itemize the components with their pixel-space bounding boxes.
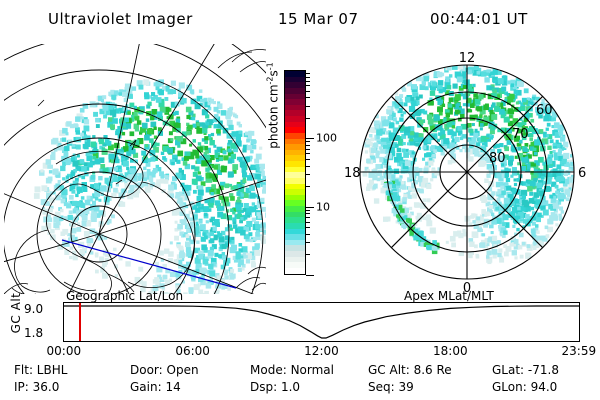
- gc-alt-ytick-high: 9.0: [24, 302, 43, 316]
- aurora-pixel: [240, 217, 243, 220]
- aurora-pixel: [439, 112, 443, 116]
- aurora-pixel: [98, 176, 102, 180]
- aurora-pixel: [418, 231, 423, 236]
- status-field-value: 39: [395, 380, 414, 394]
- aurora-pixel: [218, 254, 222, 258]
- aurora-pixel: [226, 111, 232, 117]
- aurora-pixel: [462, 71, 466, 75]
- aurora-pixel: [526, 253, 530, 257]
- aurora-pixel: [228, 171, 234, 177]
- status-field-label: IP:: [14, 380, 29, 394]
- aurora-pixel: [153, 168, 158, 173]
- aurora-pixel: [398, 141, 403, 146]
- aurora-pixel: [481, 136, 487, 142]
- aurora-pixel: [487, 174, 491, 178]
- aurora-pixel: [516, 101, 519, 104]
- aurora-pixel: [164, 179, 169, 184]
- aurora-pixel: [501, 191, 506, 196]
- aurora-pixel: [151, 92, 155, 96]
- aurora-pixel: [198, 171, 201, 174]
- aurora-pixel: [414, 138, 418, 142]
- aurora-pixel: [233, 224, 238, 229]
- aurora-pixel: [188, 125, 193, 130]
- colorbar-tick-3: [306, 85, 310, 86]
- aurora-pixel: [175, 196, 178, 199]
- aurora-pixel: [74, 123, 78, 127]
- aurora-pixel: [401, 213, 404, 216]
- aurora-pixel: [251, 261, 255, 265]
- aurora-pixel: [108, 154, 114, 160]
- aurora-pixel: [228, 149, 232, 153]
- aurora-pixel: [206, 122, 209, 125]
- gc-alt-curve-canvas: [64, 303, 579, 341]
- aurora-pixel: [449, 74, 452, 77]
- aurora-pixel: [492, 236, 497, 241]
- aurora-pixel: [242, 172, 247, 177]
- aurora-pixel: [476, 254, 479, 257]
- aurora-pixel: [432, 82, 437, 87]
- aurora-pixel: [176, 119, 181, 124]
- aurora-pixel: [536, 230, 540, 234]
- aurora-pixel: [187, 152, 191, 156]
- aurora-pixel: [156, 97, 162, 103]
- aurora-pixel: [183, 234, 186, 237]
- aurora-pixel: [186, 185, 192, 191]
- aurora-pixel: [520, 255, 524, 259]
- aurora-pixel: [447, 85, 452, 90]
- aurora-pixel: [509, 94, 515, 100]
- aurora-pixel: [62, 128, 68, 134]
- aurora-pixel: [53, 138, 59, 144]
- aurora-pixel: [531, 142, 535, 146]
- aurora-pixel: [555, 223, 558, 226]
- aurora-pixel: [201, 181, 206, 186]
- aurora-pixel: [497, 240, 501, 244]
- aurora-pixel: [211, 192, 214, 195]
- aurora-pixel: [69, 210, 73, 214]
- aurora-pixel: [484, 77, 489, 82]
- aurora-pixel: [428, 161, 433, 166]
- aurora-pixel: [138, 267, 143, 272]
- aurora-pixel: [211, 133, 214, 136]
- colorbar-tick-23: [306, 234, 310, 235]
- aurora-pixel: [60, 209, 64, 213]
- aurora-pixel: [146, 118, 150, 122]
- colorbar-tick-1: [306, 77, 310, 78]
- aurora-pixel: [175, 221, 178, 224]
- aurora-pixel: [122, 92, 127, 97]
- aurora-pixel: [483, 105, 489, 111]
- aurora-pixel: [547, 187, 552, 192]
- aurora-pixel: [208, 250, 214, 256]
- aurora-pixel: [537, 183, 543, 189]
- aurora-pixel: [53, 169, 59, 175]
- aurora-pixel: [487, 238, 492, 243]
- aurora-pixel: [366, 140, 371, 145]
- aurora-pixel: [145, 144, 148, 147]
- aurora-pixel: [64, 146, 69, 151]
- aurora-pixel: [62, 229, 68, 235]
- aurora-pixel: [196, 123, 200, 127]
- status-field-label: Flt:: [14, 363, 33, 377]
- aurora-pixel: [406, 218, 410, 222]
- aurora-pixel: [566, 197, 570, 201]
- status-field-gain: Gain: 14: [130, 380, 181, 394]
- aurora-pixel: [409, 174, 415, 180]
- aurora-pixel: [560, 188, 563, 191]
- aurora-pixel: [218, 233, 222, 237]
- aurora-pixel: [199, 220, 203, 224]
- gc-alt-timeseries[interactable]: GC Alt 9.0 1.8 00:0006:0012:0018:0023:59: [0, 300, 600, 356]
- aurora-pixel: [80, 133, 84, 137]
- aurora-pixel: [217, 206, 222, 211]
- aurora-pixel: [374, 142, 379, 147]
- aurora-pixel: [205, 168, 209, 172]
- aurora-pixel: [197, 196, 202, 201]
- aurora-pixel: [147, 129, 153, 135]
- aurora-pixel: [370, 138, 374, 142]
- aurora-pixel: [90, 142, 96, 148]
- aurora-pixel: [178, 246, 183, 251]
- aurora-pixel: [228, 125, 233, 130]
- aurora-pixel: [233, 114, 237, 118]
- aurora-pixel: [433, 246, 438, 251]
- aurora-pixel: [430, 228, 436, 234]
- aurora-pixel: [176, 160, 180, 164]
- aurora-pixel: [51, 152, 55, 156]
- aurora-pixel: [48, 218, 53, 223]
- apex-graticule: [360, 65, 574, 279]
- aurora-pixel: [224, 275, 228, 279]
- status-field-mode: Mode: Normal: [250, 363, 334, 377]
- aurora-pixel: [189, 211, 193, 215]
- aurora-pixel: [472, 123, 475, 126]
- aurora-pixel: [246, 221, 252, 227]
- colorbar-tick-9: [306, 141, 310, 142]
- aurora-pixel: [216, 129, 221, 134]
- aurora-pixel: [239, 131, 242, 134]
- aurora-pixel: [119, 201, 123, 205]
- aurora-pixel: [60, 166, 65, 171]
- status-field-seq: Seq: 39: [368, 380, 414, 394]
- aurora-pixel: [214, 107, 219, 112]
- aurora-pixel: [410, 131, 414, 135]
- aurora-pixel: [171, 81, 176, 86]
- aurora-pixel: [559, 207, 563, 211]
- aurora-pixel: [88, 162, 93, 167]
- aurora-pixel: [113, 248, 117, 252]
- aurora-pixel: [512, 167, 517, 172]
- aurora-pixel: [242, 168, 247, 173]
- colorbar-unit-exp1: -2: [266, 76, 275, 84]
- aurora-pixel: [192, 179, 198, 185]
- aurora-pixel: [458, 126, 463, 131]
- aurora-pixel: [486, 255, 490, 259]
- aurora-pixel: [245, 132, 249, 136]
- aurora-pixel: [168, 185, 174, 191]
- aurora-pixel: [141, 172, 147, 178]
- colorbar-tick-21: [306, 222, 310, 223]
- aurora-pixel: [393, 192, 398, 197]
- aurora-pixel: [563, 142, 568, 147]
- aurora-pixel: [491, 231, 494, 234]
- aurora-pixel: [451, 243, 456, 248]
- aurora-pixel: [468, 156, 473, 161]
- aurora-pixel: [409, 231, 414, 236]
- aurora-pixel: [157, 111, 163, 117]
- aurora-pixel: [407, 213, 412, 218]
- aurora-pixel: [236, 204, 242, 210]
- aurora-pixel: [534, 139, 540, 145]
- aurora-pixel: [492, 88, 495, 91]
- aurora-pixel: [501, 87, 506, 92]
- colorbar-tick-4: [306, 91, 310, 92]
- aurora-pixel: [230, 228, 233, 231]
- aurora-pixel: [406, 149, 409, 152]
- aurora-pixel: [426, 214, 431, 219]
- aurora-pixel: [490, 136, 493, 139]
- aurora-pixel: [87, 196, 91, 200]
- aurora-pixel: [186, 234, 190, 238]
- aurora-pixel: [527, 181, 530, 184]
- status-field-value: 14: [162, 380, 181, 394]
- aurora-pixel: [213, 227, 217, 231]
- aurora-pixel: [426, 220, 432, 226]
- aurora-pixel: [538, 157, 544, 163]
- aurora-pixel: [468, 223, 471, 226]
- status-field-ip: IP: 36.0: [14, 380, 59, 394]
- status-field-label: Gain:: [130, 380, 162, 394]
- aurora-pixel: [186, 247, 191, 252]
- aurora-pixel: [524, 88, 529, 93]
- aurora-pixel: [217, 212, 223, 218]
- aurora-pixel: [517, 147, 521, 151]
- aurora-pixel: [189, 218, 193, 222]
- aurora-pixel: [496, 144, 500, 148]
- aurora-pixel: [198, 142, 201, 145]
- aurora-pixel: [480, 123, 484, 127]
- aurora-pixel: [391, 174, 396, 179]
- aurora-pixel: [179, 252, 185, 258]
- aurora-pixel: [495, 207, 499, 211]
- aurora-pixel: [211, 184, 216, 189]
- aurora-pixel: [411, 101, 416, 106]
- aurora-pixel: [213, 101, 216, 104]
- aurora-pixel: [522, 195, 526, 199]
- aurora-pixel: [236, 192, 240, 196]
- aurora-pixel: [186, 229, 190, 233]
- aurora-pixel: [119, 169, 122, 172]
- aurora-pixel: [486, 134, 489, 137]
- aurora-pixel: [377, 178, 381, 182]
- aurora-pixel: [376, 130, 382, 136]
- aurora-pixel: [209, 219, 213, 223]
- aurora-pixel: [457, 231, 461, 235]
- aurora-pixel: [480, 242, 486, 248]
- aurora-pixel: [403, 111, 406, 114]
- aurora-pixel: [457, 77, 463, 83]
- aurora-pixel: [554, 156, 559, 161]
- aurora-pixel: [237, 122, 241, 126]
- aurora-pixel: [445, 78, 449, 82]
- aurora-pixel: [81, 175, 85, 179]
- aurora-pixel: [161, 152, 164, 155]
- aurora-pixel: [521, 166, 526, 171]
- aurora-pixel: [95, 197, 99, 201]
- aurora-pixel: [472, 231, 478, 237]
- status-field-label: GLat:: [492, 363, 524, 377]
- aurora-pixel: [404, 127, 410, 133]
- aurora-pixel: [170, 138, 173, 141]
- aurora-pixel: [204, 213, 208, 217]
- aurora-pixel: [385, 174, 391, 180]
- aurora-pixel: [242, 208, 246, 212]
- aurora-pixel: [210, 199, 214, 203]
- aurora-pixel: [81, 166, 87, 172]
- aurora-pixel: [247, 175, 253, 181]
- aurora-pixel: [204, 291, 209, 294]
- aurora-pixel: [214, 165, 219, 170]
- aurora-pixel: [477, 106, 482, 111]
- aurora-pixel: [414, 202, 419, 207]
- aurora-pixel: [86, 222, 91, 227]
- aurora-pixel: [193, 124, 197, 128]
- aurora-pixel: [201, 237, 206, 242]
- aurora-pixel: [476, 142, 480, 146]
- page-title: Ultraviolet Imager: [48, 10, 193, 28]
- aurora-pixel: [247, 145, 252, 150]
- aurora-pixel: [487, 250, 492, 255]
- aurora-pixel: [543, 165, 549, 171]
- aurora-pixel: [99, 257, 104, 262]
- colorbar-tick-24: [306, 242, 310, 243]
- aurora-pixel: [252, 218, 256, 222]
- aurora-pixel: [491, 213, 495, 217]
- aurora-pixel: [449, 122, 453, 126]
- status-field-gc-alt: GC Alt: 8.6 Re: [368, 363, 452, 377]
- aurora-pixel: [84, 119, 89, 124]
- aurora-pixel: [438, 80, 443, 85]
- aurora-pixel: [383, 128, 387, 132]
- current-time-marker[interactable]: [79, 303, 81, 341]
- aurora-pixel: [124, 118, 129, 123]
- mlt-label-12: 12: [459, 51, 476, 66]
- aurora-pixel: [491, 105, 494, 108]
- aurora-pixel: [144, 92, 149, 97]
- aurora-pixel: [476, 216, 480, 220]
- aurora-pixel: [246, 259, 250, 263]
- aurora-pixel: [555, 185, 559, 189]
- apex-polar-plot[interactable]: 12 0 18 6 60 70 80: [340, 42, 598, 296]
- aurora-pixel: [231, 237, 234, 240]
- aurora-pixel: [412, 193, 417, 198]
- aurora-pixel: [501, 170, 505, 174]
- aurora-pixel: [222, 252, 225, 255]
- aurora-pixel: [487, 260, 491, 264]
- aurora-pixel: [241, 267, 244, 270]
- aurora-pixel: [475, 129, 478, 132]
- aurora-pixel: [156, 143, 160, 147]
- aurora-pixel: [504, 252, 509, 257]
- aurora-pixel: [401, 181, 404, 184]
- mlat-label-80: 80: [489, 151, 506, 166]
- aurora-pixel: [463, 103, 466, 106]
- aurora-pixel: [111, 95, 116, 100]
- aurora-pixel: [396, 121, 400, 125]
- aurora-pixel: [144, 135, 150, 141]
- aurora-pixel: [134, 116, 139, 121]
- aurora-pixel: [372, 175, 377, 180]
- aurora-pixel: [407, 142, 410, 145]
- aurora-pixel: [83, 187, 88, 192]
- aurora-pixel: [457, 103, 461, 107]
- aurora-pixel: [534, 152, 537, 155]
- aurora-pixel: [469, 129, 473, 133]
- aurora-pixel: [482, 161, 486, 165]
- aurora-pixel: [204, 136, 208, 140]
- aurora-pixel: [371, 156, 375, 160]
- colorbar-tick-11: [306, 149, 310, 150]
- aurora-pixel: [416, 143, 420, 147]
- aurora-pixel: [215, 222, 220, 227]
- aurora-pixel: [77, 154, 80, 157]
- aurora-pixel: [553, 168, 558, 173]
- aurora-pixel: [416, 216, 420, 220]
- aurora-pixel: [76, 145, 81, 150]
- aurora-pixel: [114, 90, 119, 95]
- aurora-pixel: [516, 228, 519, 231]
- aurora-pixel: [252, 145, 257, 150]
- aurora-pixel: [201, 244, 207, 250]
- aurora-pixel: [147, 102, 151, 106]
- aurora-pixel: [396, 182, 400, 186]
- colorbar-band-35: [285, 268, 305, 274]
- aurora-pixel: [66, 160, 71, 165]
- aurora-pixel: [486, 73, 489, 76]
- aurora-pixel: [459, 149, 462, 152]
- status-field-dsp: Dsp: 1.0: [250, 380, 300, 394]
- aurora-pixel: [491, 114, 497, 120]
- aurora-pixel: [178, 136, 184, 142]
- aurora-pixel: [194, 284, 200, 290]
- aurora-pixel: [530, 99, 533, 102]
- aurora-pixel: [214, 253, 218, 257]
- aurora-pixel: [215, 150, 218, 153]
- aurora-pixel: [251, 139, 256, 144]
- aurora-pixel: [79, 249, 85, 255]
- aurora-pixel: [195, 208, 200, 213]
- geographic-polar-plot[interactable]: [4, 44, 266, 294]
- aurora-pixel: [180, 219, 184, 223]
- aurora-pixel: [49, 170, 52, 173]
- aurora-pixel: [401, 224, 405, 228]
- aurora-pixel: [119, 257, 123, 261]
- aurora-pixel: [404, 102, 408, 106]
- aurora-pixel: [87, 139, 90, 142]
- aurora-pixel: [452, 125, 455, 128]
- aurora-pixel: [503, 230, 507, 234]
- gc-alt-xtick-0000: 00:00: [47, 344, 82, 358]
- aurora-pixel: [558, 202, 561, 205]
- colorbar-axis-title: photon cm-2s-1: [266, 31, 281, 181]
- colorbar-tick-12: [306, 153, 310, 154]
- aurora-pixel: [83, 144, 88, 149]
- aurora-pixel: [84, 126, 90, 132]
- aurora-pixel: [208, 264, 213, 269]
- gc-alt-plot-area[interactable]: [63, 302, 580, 342]
- aurora-pixel: [160, 179, 165, 184]
- aurora-pixel: [405, 160, 411, 166]
